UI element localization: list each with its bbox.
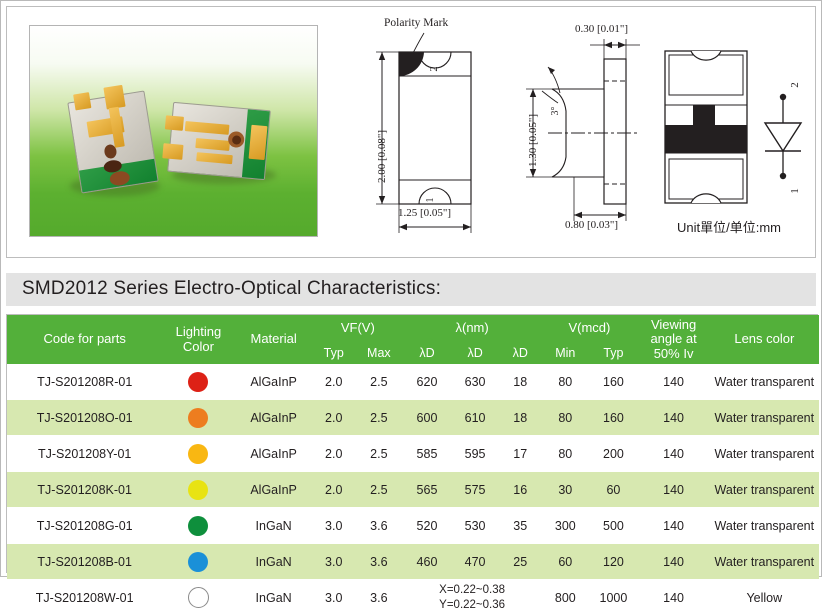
th-viewing-angle: Viewing angle at 50% Iv bbox=[638, 315, 710, 364]
cell-v-typ: 160 bbox=[589, 400, 637, 436]
cell-lighting-color bbox=[162, 580, 234, 615]
led-component-1 bbox=[67, 90, 158, 193]
cell-lens-color: Water transparent bbox=[710, 508, 819, 544]
cell-material: AlGaInP bbox=[235, 436, 313, 472]
cell-lambda-2: 630 bbox=[451, 364, 499, 400]
cell-vf-max: 2.5 bbox=[355, 400, 403, 436]
datasheet-page: 2 1 Polarity Mark 2.00 [0.08"] 1.25 [0.0… bbox=[0, 0, 822, 577]
th-lens-color: Lens color bbox=[710, 315, 819, 364]
spec-table-head: Code for parts Lighting Color Material V… bbox=[7, 315, 819, 364]
th-v-typ: Typ bbox=[589, 341, 637, 364]
cell-lighting-color bbox=[162, 436, 234, 472]
cell-lambda-1: 620 bbox=[403, 364, 451, 400]
side-view-height-dim: 1.30 [0.05"] bbox=[527, 114, 539, 167]
cell-viewing-angle: 140 bbox=[638, 544, 710, 580]
cell-lambda-3: 35 bbox=[499, 508, 541, 544]
table-row: TJ-S201208G-01InGaN3.03.6520530353005001… bbox=[7, 508, 819, 544]
color-dot-red bbox=[188, 372, 208, 392]
cell-lens-color: Water transparent bbox=[710, 400, 819, 436]
th-vf-typ: Typ bbox=[313, 341, 355, 364]
chromaticity-x: X=0.22~0.38 bbox=[403, 583, 541, 598]
cell-vf-typ: 3.0 bbox=[313, 508, 355, 544]
cell-code: TJ-S201208W-01 bbox=[7, 580, 162, 615]
th-v-min: Min bbox=[541, 341, 589, 364]
cell-vf-typ: 2.0 bbox=[313, 400, 355, 436]
cell-lambda-1: 460 bbox=[403, 544, 451, 580]
cell-viewing-angle: 140 bbox=[638, 400, 710, 436]
cell-code: TJ-S201208O-01 bbox=[7, 400, 162, 436]
cell-v-typ: 200 bbox=[589, 436, 637, 472]
cell-lighting-color bbox=[162, 472, 234, 508]
cell-lambda-1: 565 bbox=[403, 472, 451, 508]
th-viewing-angle-line2: angle at bbox=[638, 332, 710, 347]
color-dot-blue bbox=[188, 552, 208, 572]
cell-vf-typ: 2.0 bbox=[313, 472, 355, 508]
led-component-2 bbox=[167, 102, 271, 180]
cell-lens-color: Yellow bbox=[710, 580, 819, 615]
cell-vf-typ: 3.0 bbox=[313, 544, 355, 580]
cell-lens-color: Water transparent bbox=[710, 544, 819, 580]
th-v-group: V(mcd) bbox=[541, 315, 637, 341]
cell-vf-max: 2.5 bbox=[355, 436, 403, 472]
cell-vf-max: 3.6 bbox=[355, 508, 403, 544]
svg-text:1: 1 bbox=[789, 188, 801, 194]
spec-table-container: Code for parts Lighting Color Material V… bbox=[6, 314, 818, 573]
cell-vf-max: 2.5 bbox=[355, 472, 403, 508]
th-material: Material bbox=[235, 315, 313, 364]
table-row: TJ-S201208O-01AlGaInP2.02.56006101880160… bbox=[7, 400, 819, 436]
cell-lens-color: Water transparent bbox=[710, 436, 819, 472]
th-code: Code for parts bbox=[7, 315, 162, 364]
cell-vf-max: 3.6 bbox=[355, 580, 403, 615]
cell-material: InGaN bbox=[235, 544, 313, 580]
th-lambda-3: λD bbox=[499, 341, 541, 364]
cell-code: TJ-S201208K-01 bbox=[7, 472, 162, 508]
th-lighting-color: Lighting Color bbox=[162, 315, 234, 364]
cell-vf-typ: 2.0 bbox=[313, 436, 355, 472]
th-vf-group: VF(V) bbox=[313, 315, 403, 341]
cell-viewing-angle: 140 bbox=[638, 436, 710, 472]
cell-lambda-3: 17 bbox=[499, 436, 541, 472]
cell-v-typ: 160 bbox=[589, 364, 637, 400]
th-vf-max: Max bbox=[355, 341, 403, 364]
cell-lighting-color bbox=[162, 508, 234, 544]
cell-lens-color: Water transparent bbox=[710, 364, 819, 400]
cell-v-min: 800 bbox=[541, 580, 589, 615]
cell-code: TJ-S201208G-01 bbox=[7, 508, 162, 544]
table-row: TJ-S201208K-01AlGaInP2.02.55655751630601… bbox=[7, 472, 819, 508]
product-photo bbox=[29, 25, 318, 237]
cell-v-min: 60 bbox=[541, 544, 589, 580]
drawing-side-view: 3° 0.30 [0.01"] 1.30 [0.05"] 0.80 [0.03"… bbox=[512, 19, 662, 249]
cell-lighting-color bbox=[162, 544, 234, 580]
cell-code: TJ-S201208B-01 bbox=[7, 544, 162, 580]
chromaticity-y: Y=0.22~0.36 bbox=[403, 598, 541, 613]
svg-text:2: 2 bbox=[429, 67, 440, 72]
cell-vf-max: 2.5 bbox=[355, 364, 403, 400]
cell-material: AlGaInP bbox=[235, 472, 313, 508]
cell-lambda-3: 16 bbox=[499, 472, 541, 508]
top-illustration-panel: 2 1 Polarity Mark 2.00 [0.08"] 1.25 [0.0… bbox=[6, 6, 816, 258]
cell-lambda-2: 470 bbox=[451, 544, 499, 580]
cell-vf-typ: 3.0 bbox=[313, 580, 355, 615]
color-dot-white bbox=[188, 587, 209, 608]
cell-v-min: 80 bbox=[541, 364, 589, 400]
cell-vf-max: 3.6 bbox=[355, 544, 403, 580]
cell-code: TJ-S201208R-01 bbox=[7, 364, 162, 400]
color-dot-orange bbox=[188, 408, 208, 428]
cell-v-min: 80 bbox=[541, 436, 589, 472]
cell-v-typ: 60 bbox=[589, 472, 637, 508]
color-dot-green bbox=[188, 516, 208, 536]
cell-viewing-angle: 140 bbox=[638, 508, 710, 544]
page-title: SMD2012 Series Electro-Optical Character… bbox=[22, 278, 441, 300]
cell-v-typ: 500 bbox=[589, 508, 637, 544]
cell-chromaticity: X=0.22~0.38Y=0.22~0.36 bbox=[403, 580, 541, 615]
th-lambda-1: λD bbox=[403, 341, 451, 364]
cell-v-min: 30 bbox=[541, 472, 589, 508]
table-row: TJ-S201208Y-01AlGaInP2.02.55855951780200… bbox=[7, 436, 819, 472]
section-title-band: SMD2012 Series Electro-Optical Character… bbox=[6, 273, 816, 306]
cell-lambda-2: 530 bbox=[451, 508, 499, 544]
cell-v-min: 300 bbox=[541, 508, 589, 544]
cell-v-typ: 120 bbox=[589, 544, 637, 580]
top-view-height-dim: 2.00 [0.08"] bbox=[376, 130, 388, 183]
cell-vf-typ: 2.0 bbox=[313, 364, 355, 400]
svg-text:3°: 3° bbox=[550, 107, 561, 116]
cell-viewing-angle: 140 bbox=[638, 580, 710, 615]
unit-label: Unit單位/单位:mm bbox=[677, 217, 781, 236]
side-view-bottom-dim: 0.80 [0.03"] bbox=[565, 219, 618, 231]
cell-material: AlGaInP bbox=[235, 400, 313, 436]
cell-v-typ: 1000 bbox=[589, 580, 637, 615]
cell-lambda-2: 610 bbox=[451, 400, 499, 436]
cell-viewing-angle: 140 bbox=[638, 472, 710, 508]
th-lighting-color-line1: Lighting bbox=[162, 325, 234, 340]
svg-text:1: 1 bbox=[425, 198, 436, 203]
cell-lambda-1: 585 bbox=[403, 436, 451, 472]
cell-v-min: 80 bbox=[541, 400, 589, 436]
color-dot-yellow bbox=[188, 480, 208, 500]
cell-viewing-angle: 140 bbox=[638, 364, 710, 400]
cell-material: InGaN bbox=[235, 580, 313, 615]
polarity-mark-label: Polarity Mark bbox=[384, 17, 448, 29]
cell-lambda-1: 600 bbox=[403, 400, 451, 436]
cell-lambda-2: 575 bbox=[451, 472, 499, 508]
bottom-view-svg: 2 1 bbox=[655, 19, 815, 249]
spec-table-body: TJ-S201208R-01AlGaInP2.02.56206301880160… bbox=[7, 364, 819, 615]
cell-material: InGaN bbox=[235, 508, 313, 544]
cell-lighting-color bbox=[162, 400, 234, 436]
table-row: TJ-S201208W-01InGaN3.03.6X=0.22~0.38Y=0.… bbox=[7, 580, 819, 615]
th-viewing-angle-line1: Viewing bbox=[638, 318, 710, 333]
th-lighting-color-line2: Color bbox=[162, 340, 234, 355]
drawing-top-view: 2 1 Polarity Mark 2.00 [0.08"] 1.25 [0.0… bbox=[362, 19, 507, 249]
cell-code: TJ-S201208Y-01 bbox=[7, 436, 162, 472]
cell-lambda-3: 18 bbox=[499, 400, 541, 436]
table-row: TJ-S201208B-01InGaN3.03.6460470256012014… bbox=[7, 544, 819, 580]
spec-table: Code for parts Lighting Color Material V… bbox=[7, 315, 819, 615]
side-view-top-dim: 0.30 [0.01"] bbox=[575, 23, 628, 35]
cell-lens-color: Water transparent bbox=[710, 472, 819, 508]
drawing-bottom-and-schematic: 2 1 Unit單位/单位:mm bbox=[655, 19, 815, 249]
table-row: TJ-S201208R-01AlGaInP2.02.56206301880160… bbox=[7, 364, 819, 400]
color-dot-amber bbox=[188, 444, 208, 464]
cell-material: AlGaInP bbox=[235, 364, 313, 400]
cell-lambda-1: 520 bbox=[403, 508, 451, 544]
cell-lambda-2: 595 bbox=[451, 436, 499, 472]
cell-lighting-color bbox=[162, 364, 234, 400]
cell-lambda-3: 18 bbox=[499, 364, 541, 400]
th-viewing-angle-line3: 50% Iv bbox=[638, 347, 710, 362]
th-lambda-2: λD bbox=[451, 341, 499, 364]
top-view-width-dim: 1.25 [0.05"] bbox=[398, 207, 451, 219]
cell-lambda-3: 25 bbox=[499, 544, 541, 580]
th-lambda-group: λ(nm) bbox=[403, 315, 541, 341]
svg-text:2: 2 bbox=[789, 82, 801, 88]
